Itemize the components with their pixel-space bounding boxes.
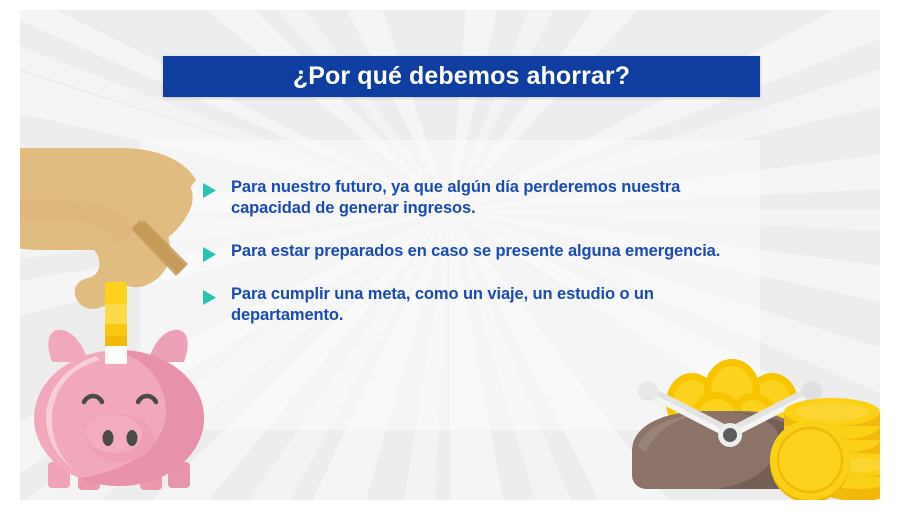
page-title: ¿Por qué debemos ahorrar? — [293, 62, 630, 91]
hand-coin-icon — [105, 282, 127, 350]
piggy-bank-icon — [34, 330, 204, 490]
slide-title-bar: ¿Por qué debemos ahorrar? — [163, 56, 760, 97]
list-item: Para nuestro futuro, ya que algún día pe… — [203, 177, 723, 219]
slide-canvas: ¿Por qué debemos ahorrar? Para nuestro f… — [20, 10, 880, 500]
slide: ¿Por qué debemos ahorrar? Para nuestro f… — [0, 0, 900, 512]
piggy-bank-illustration — [20, 140, 230, 500]
list-item-label: Para cumplir una meta, como un viaje, un… — [231, 284, 723, 326]
list-item-label: Para estar preparados en caso se present… — [231, 241, 720, 262]
list-item-label: Para nuestro futuro, ya que algún día pe… — [231, 177, 723, 219]
bullet-list: Para nuestro futuro, ya que algún día pe… — [203, 177, 723, 348]
play-triangle-icon — [203, 290, 216, 305]
list-item: Para estar preparados en caso se present… — [203, 241, 723, 262]
play-triangle-icon — [203, 183, 216, 198]
coin-purse-illustration — [620, 355, 880, 500]
list-item: Para cumplir una meta, como un viaje, un… — [203, 284, 723, 326]
play-triangle-icon — [203, 247, 216, 262]
coin-large-icon — [770, 420, 850, 500]
